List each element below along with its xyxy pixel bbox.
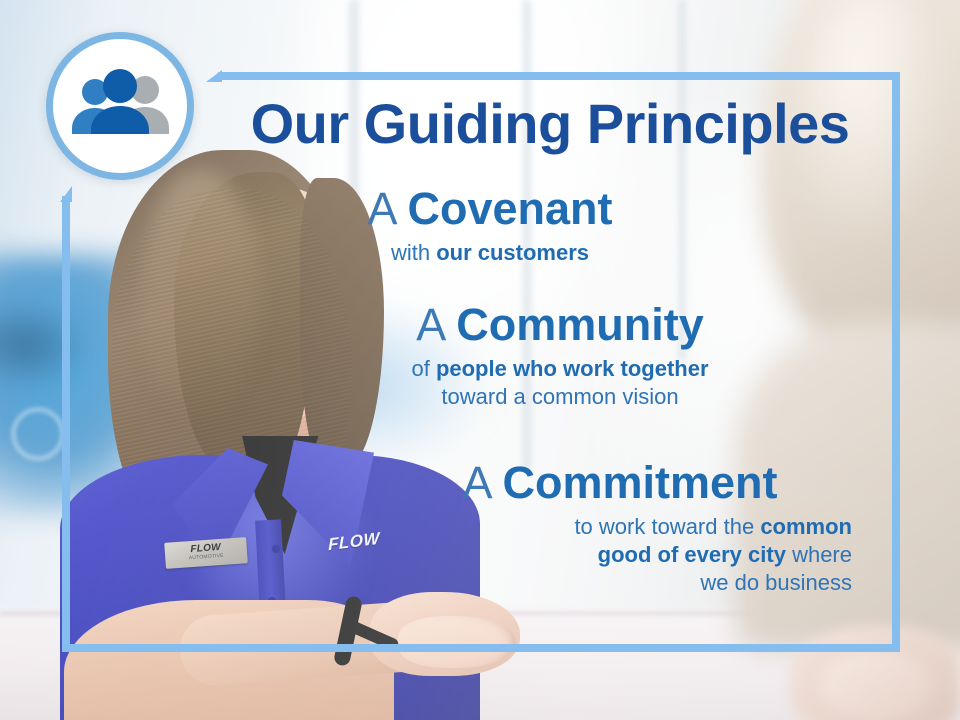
principle-community: A Community of people who work together … [340,302,780,411]
community-sub-plain: of [411,356,435,381]
principle-community-word: Community [456,299,704,350]
guiding-principles-poster: FLOW FLOW AUTOMOTIVE [0,0,960,720]
principle-commitment: A Commitment to work toward the common g… [380,460,860,597]
principle-community-title: A Community [340,302,780,348]
commitment-sub-line3: we do business [700,570,852,595]
principle-commitment-subtitle: to work toward the common good of every … [380,513,860,597]
commitment-sub-bold-1: common [760,514,852,539]
principle-covenant: A Covenant with our customers [300,186,680,267]
commitment-sub-plain-2: where [786,542,852,567]
principle-covenant-article: A [367,183,407,234]
principle-commitment-article: A [462,457,502,508]
principle-commitment-word: Commitment [503,457,778,508]
principle-covenant-title: A Covenant [300,186,680,232]
principle-covenant-subtitle: with our customers [300,239,680,267]
principle-community-article: A [416,299,456,350]
commitment-sub-bold-2: good of every city [598,542,786,567]
principle-commitment-title: A Commitment [380,460,860,506]
covenant-sub-plain: with [391,240,436,265]
community-sub-line2: toward a common vision [441,384,678,409]
page-title: Our Guiding Principles [220,96,880,152]
commitment-sub-plain-1: to work toward the [574,514,760,539]
text-layer: Our Guiding Principles A Covenant with o… [0,0,960,720]
covenant-sub-bold: our customers [436,240,589,265]
principle-covenant-word: Covenant [408,183,613,234]
community-sub-bold: people who work together [436,356,709,381]
principle-community-subtitle: of people who work together toward a com… [340,355,780,411]
